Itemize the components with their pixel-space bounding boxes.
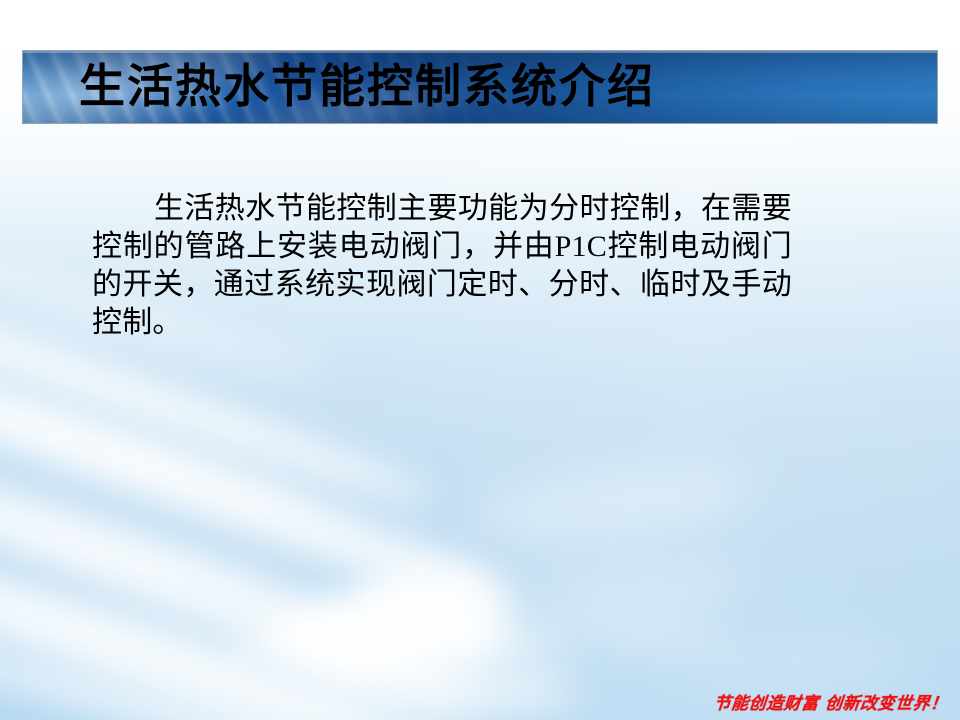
slide-title: 生活热水节能控制系统介绍 [79, 51, 655, 123]
footer-slogan: 节能创造财富 创新改变世界！ [713, 689, 950, 714]
title-banner: 生活热水节能控制系统介绍 [22, 50, 938, 124]
slide-body-paragraph: 生活热水节能控制主要功能为分时控制，在需要控制的管路上安装电动阀门，并由P1C控… [92, 190, 792, 342]
presentation-slide: 生活热水节能控制系统介绍 生活热水节能控制主要功能为分时控制，在需要控制的管路上… [0, 0, 960, 720]
